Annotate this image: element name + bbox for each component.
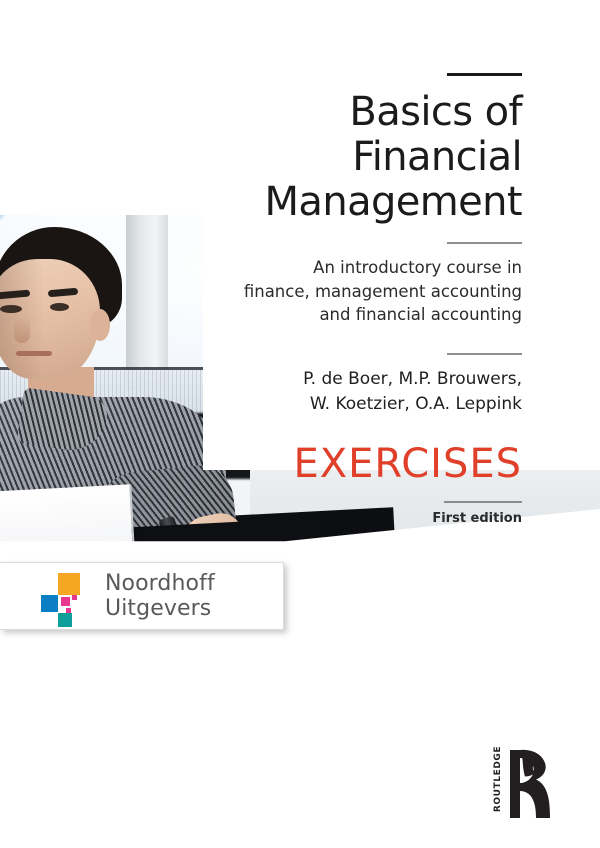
book-cover: Basics of Financial Management An introd… <box>0 0 600 848</box>
title-line-1: Basics of <box>202 90 522 135</box>
subtitle-line-2: finance, management accounting <box>202 280 522 303</box>
author-list: P. de Boer, M.P. Brouwers, W. Koetzier, … <box>202 367 522 417</box>
logo-square-teal <box>58 613 72 627</box>
authors-line-1: P. de Boer, M.P. Brouwers, <box>202 367 522 392</box>
edition-rule <box>444 501 522 503</box>
title-panel-content: Basics of Financial Management An introd… <box>202 0 522 526</box>
title-rule <box>447 73 522 76</box>
book-subtitle: An introductory course in finance, manag… <box>202 256 522 326</box>
edition-type-heading: EXERCISES <box>202 443 522 485</box>
title-line-3: Management <box>202 180 522 225</box>
publisher-name: Noordhoff Uitgevers <box>105 571 283 621</box>
person-mouth <box>16 351 52 356</box>
subtitle-rule <box>447 242 522 244</box>
page-title: Basics of Financial Management <box>202 90 522 224</box>
subtitle-line-1: An introductory course in <box>202 256 522 279</box>
routledge-logo: ROUTLEDGE <box>478 748 573 820</box>
noordhoff-logo-icon <box>41 573 87 619</box>
authors-line-2: W. Koetzier, O.A. Leppink <box>202 392 522 417</box>
publisher-logo-box: Noordhoff Uitgevers <box>0 562 284 630</box>
title-line-2: Financial <box>202 135 522 180</box>
person-ear <box>90 309 110 341</box>
logo-square-orange <box>58 573 80 595</box>
routledge-r-face-icon <box>508 748 568 820</box>
routledge-wordmark: ROUTLEDGE <box>493 746 503 812</box>
subtitle-line-3: and financial accounting <box>202 303 522 326</box>
logo-square-blue <box>41 595 58 612</box>
person-nose <box>14 317 30 343</box>
person-eye-left <box>0 305 22 313</box>
edition-label: First edition <box>202 511 522 526</box>
logo-square-pink-large <box>61 597 70 606</box>
title-panel: Basics of Financial Management An introd… <box>203 0 600 470</box>
logo-square-pink-small <box>72 595 77 600</box>
person-eye-right <box>50 303 69 311</box>
authors-rule <box>447 353 522 355</box>
